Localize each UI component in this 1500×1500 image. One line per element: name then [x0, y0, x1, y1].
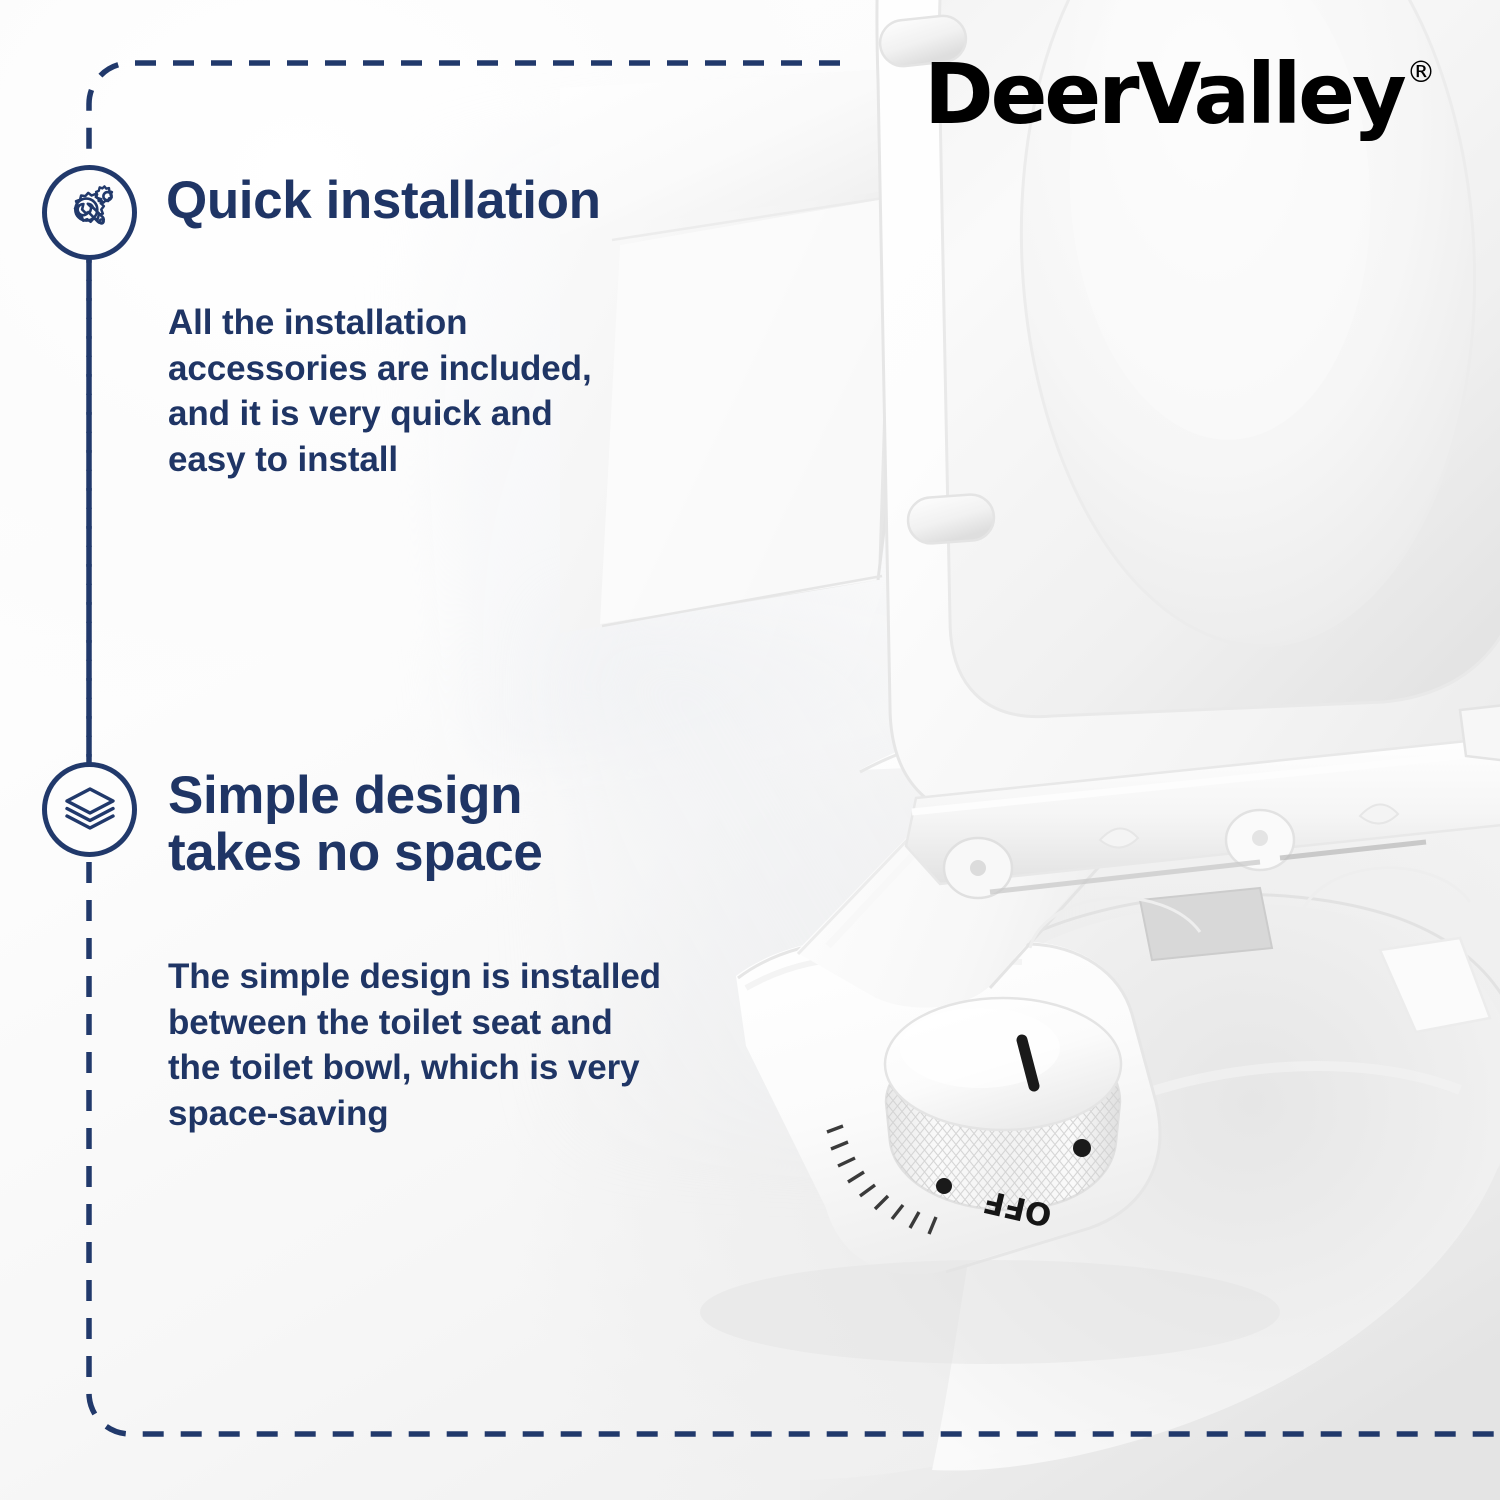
- feature-heading-0: Quick installation: [166, 173, 601, 230]
- toilet-with-bidet-attachment-photo: OFF: [560, 0, 1500, 1500]
- logo-wordmark: DeerValley: [924, 45, 1404, 143]
- deervalley-logo: DeerValley®: [924, 52, 1436, 136]
- feature-body-1: The simple design is installed between t…: [168, 954, 661, 1136]
- layers-icon: [61, 781, 119, 839]
- gear-wrench-icon: [59, 182, 121, 244]
- feature-body-0: All the installation accessories are inc…: [168, 300, 592, 482]
- feature-heading-1: Simple design takes no space: [168, 768, 542, 881]
- registered-trademark-icon: ®: [1407, 55, 1436, 89]
- feature-icon-badge-0: [42, 165, 137, 260]
- toilet-tank: [560, 70, 912, 640]
- infographic-canvas: OFF DeerValley®: [0, 0, 1500, 1500]
- feature-icon-badge-1: [42, 762, 137, 857]
